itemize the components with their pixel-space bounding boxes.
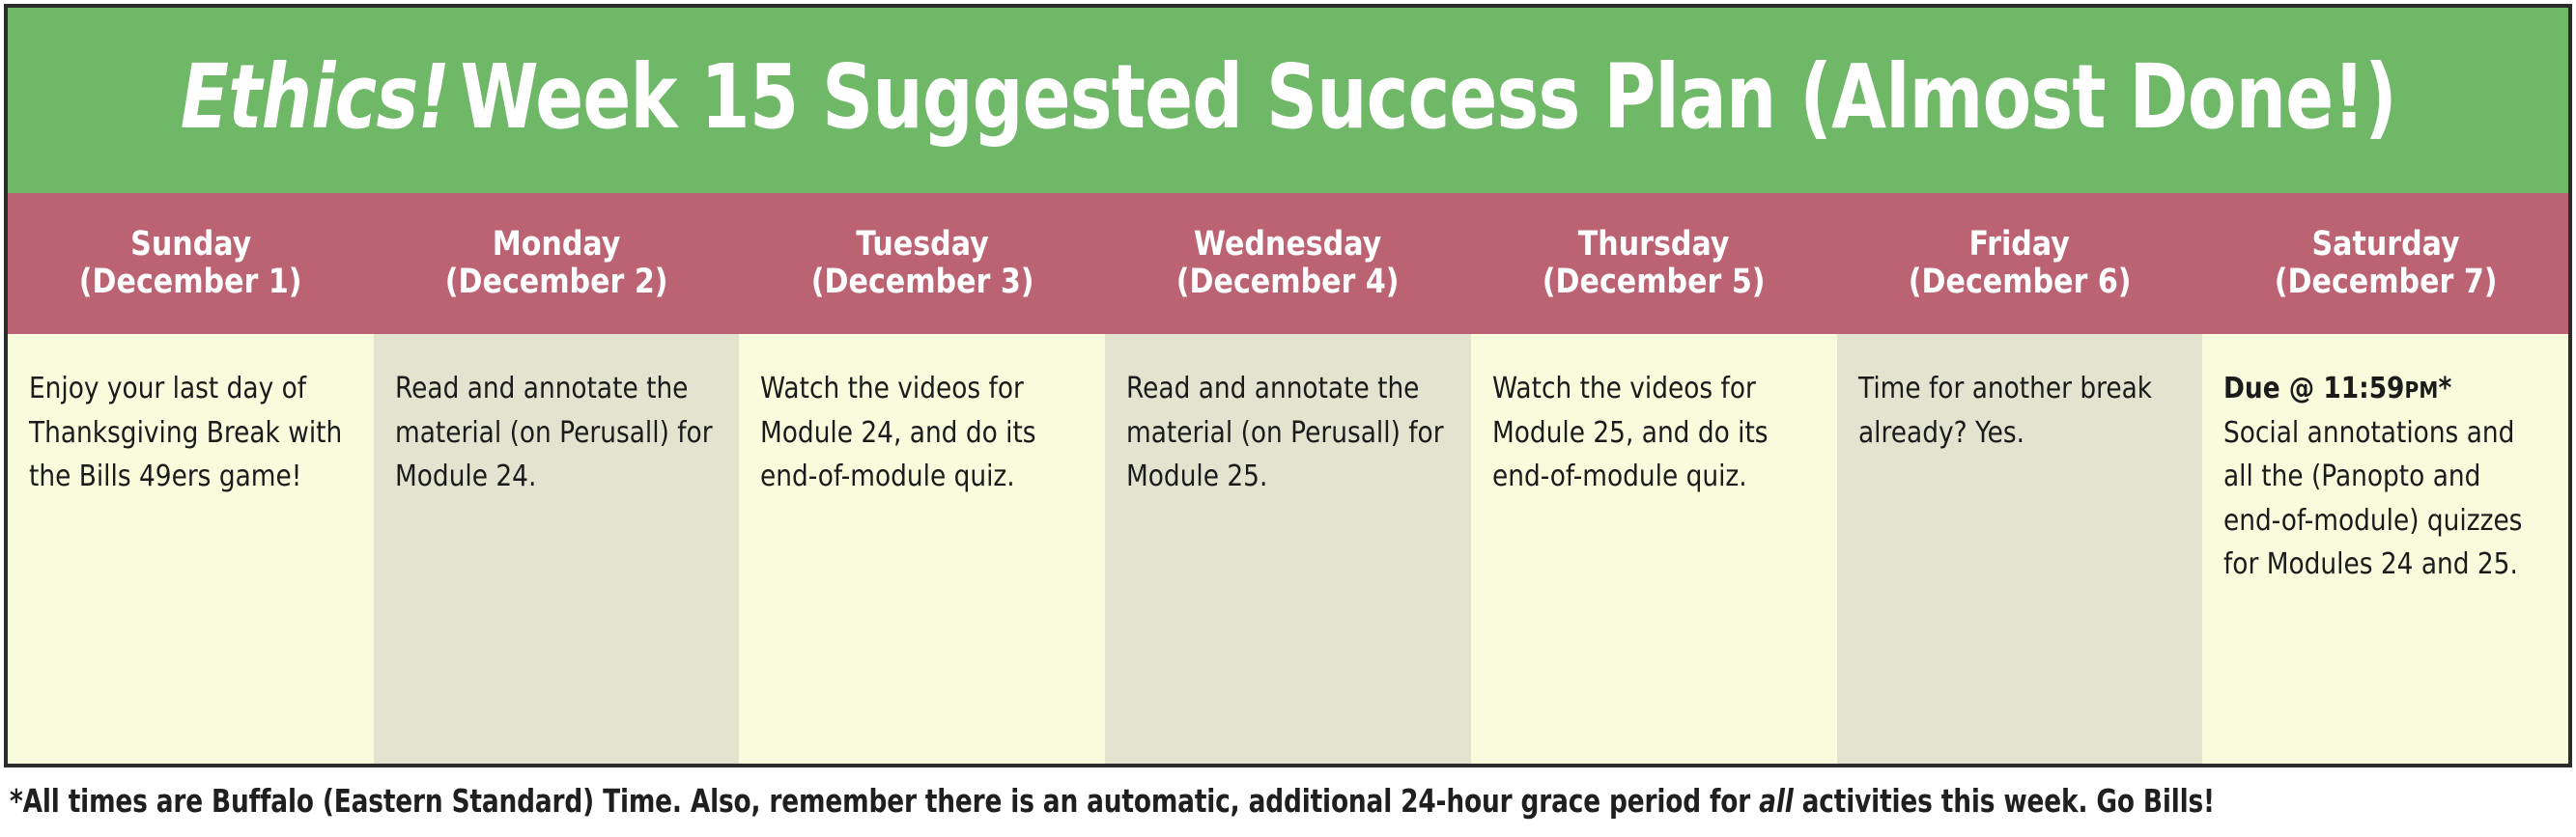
task-cell-sunday: Enjoy your last day of Thanksgiving Brea… [8, 334, 374, 764]
day-date: (December 4) [1176, 264, 1400, 301]
due-time: Due @ 11:59 [2223, 372, 2404, 405]
day-date: (December 7) [2274, 264, 2497, 301]
task-text: Read and annotate the material (on Perus… [1126, 367, 1448, 499]
task-block-saturday: Due @ 11:59PM*Social annotations and all… [2223, 367, 2545, 587]
title-emphasis: Ethics! [180, 45, 460, 149]
day-date: (December 1) [79, 264, 302, 301]
task-row: Enjoy your last day of Thanksgiving Brea… [8, 334, 2568, 764]
day-header-tuesday: Tuesday (December 3) [739, 193, 1105, 334]
task-text: Social annotations and all the (Panopto … [2223, 416, 2522, 582]
title-rest: Week 15 Suggested Success Plan (Almost D… [460, 45, 2395, 149]
day-header-friday: Friday (December 6) [1837, 193, 2203, 334]
task-cell-saturday: Due @ 11:59PM*Social annotations and all… [2202, 334, 2568, 764]
day-header-monday: Monday (December 2) [374, 193, 740, 334]
task-text: Watch the videos for Module 24, and do i… [760, 367, 1082, 499]
task-text: Time for another break already? Yes. [1858, 367, 2180, 455]
task-text: Enjoy your last day of Thanksgiving Brea… [29, 367, 351, 499]
task-text: Watch the videos for Module 25, and do i… [1492, 367, 1814, 499]
task-text: Read and annotate the material (on Perus… [395, 367, 717, 499]
day-name: Sunday [130, 226, 251, 264]
due-badge: Due @ 11:59PM* [2223, 367, 2545, 411]
footnote-part2: activities this week. Go Bills! [1794, 782, 2215, 820]
day-header-saturday: Saturday (December 7) [2202, 193, 2568, 334]
day-date: (December 2) [445, 264, 668, 301]
footnote: *All times are Buffalo (Eastern Standard… [10, 784, 2560, 819]
day-date: (December 5) [1543, 264, 1766, 301]
day-name: Tuesday [856, 226, 989, 264]
page-title: Ethics!Week 15 Suggested Success Plan (A… [180, 53, 2395, 148]
footnote-emphasis: all [1759, 782, 1793, 820]
week-table: Ethics!Week 15 Suggested Success Plan (A… [4, 4, 2572, 767]
day-name: Wednesday [1194, 226, 1381, 264]
day-date: (December 6) [1909, 264, 2132, 301]
task-cell-tuesday: Watch the videos for Module 24, and do i… [739, 334, 1105, 764]
day-header-thursday: Thursday (December 5) [1471, 193, 1837, 334]
task-cell-friday: Time for another break already? Yes. [1837, 334, 2203, 764]
day-name: Friday [1969, 226, 2070, 264]
title-band: Ethics!Week 15 Suggested Success Plan (A… [8, 8, 2568, 193]
success-plan-poster: Ethics!Week 15 Suggested Success Plan (A… [0, 0, 2576, 837]
day-header-wednesday: Wednesday (December 4) [1105, 193, 1471, 334]
day-date: (December 3) [810, 264, 1033, 301]
task-cell-monday: Read and annotate the material (on Perus… [374, 334, 740, 764]
footnote-part1: *All times are Buffalo (Eastern Standard… [10, 782, 1759, 820]
due-footnote-marker: * [2439, 372, 2452, 405]
day-name: Monday [493, 226, 621, 264]
day-name: Thursday [1578, 226, 1730, 264]
task-cell-wednesday: Read and annotate the material (on Perus… [1105, 334, 1471, 764]
day-name: Saturday [2311, 226, 2459, 264]
day-header-sunday: Sunday (December 1) [8, 193, 374, 334]
due-meridiem: PM [2405, 378, 2439, 404]
task-cell-thursday: Watch the videos for Module 25, and do i… [1471, 334, 1837, 764]
day-header-row: Sunday (December 1) Monday (December 2) … [8, 193, 2568, 334]
